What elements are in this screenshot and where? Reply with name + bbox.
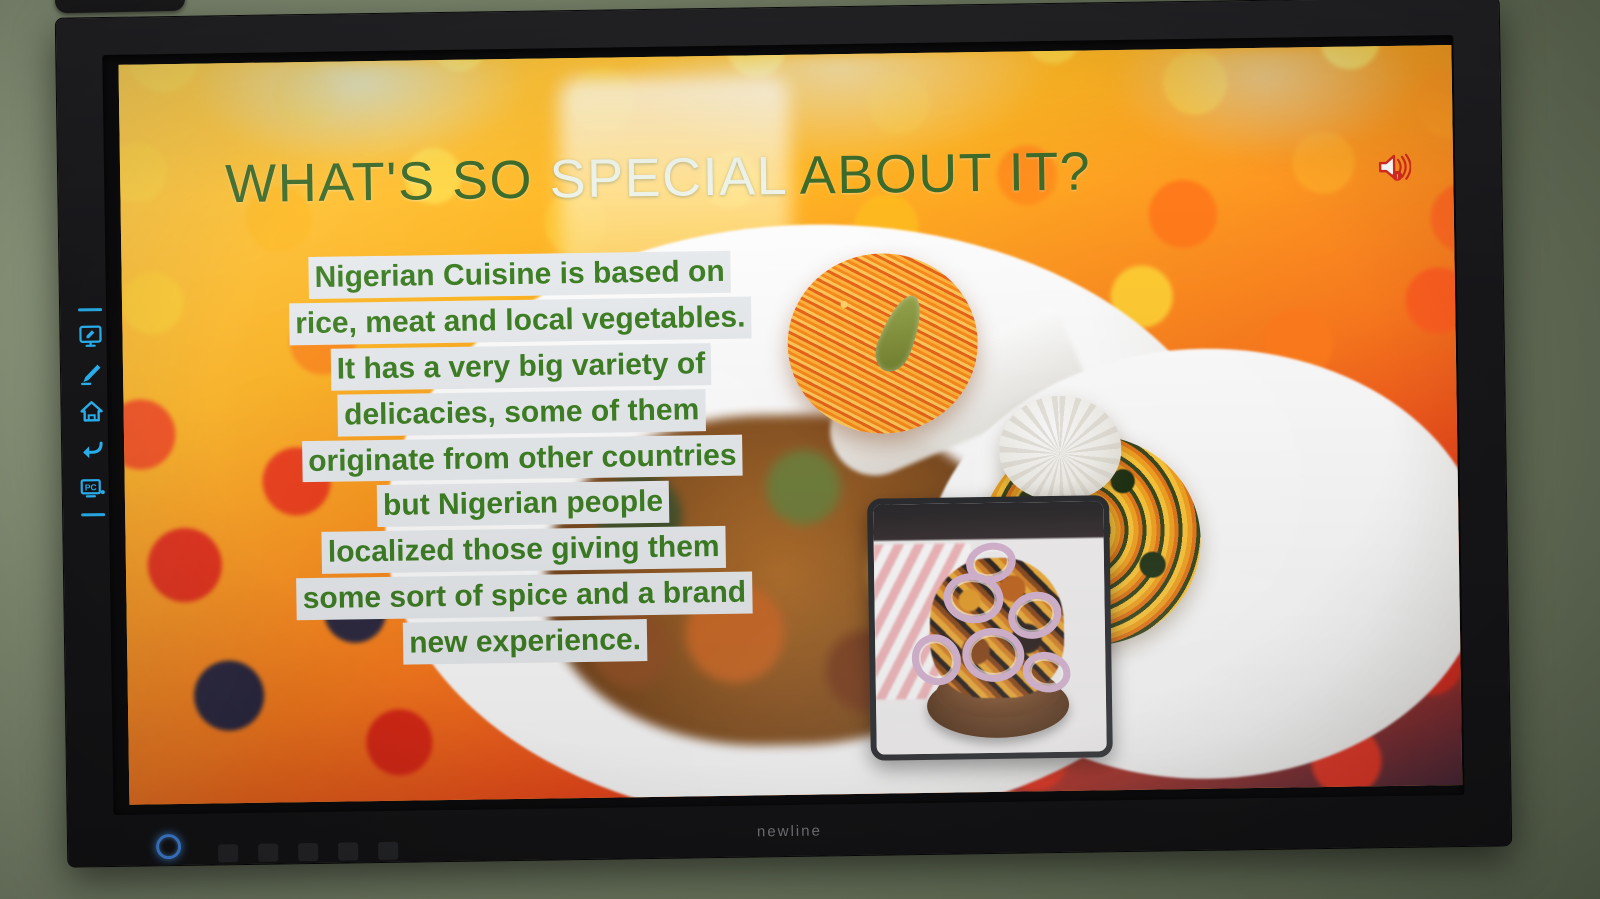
pen-marker-icon[interactable] bbox=[78, 361, 104, 387]
slide-title-part-1: WHAT'S SO bbox=[225, 149, 550, 214]
body-line: It has a very big variety of bbox=[330, 343, 711, 391]
hardware-button[interactable] bbox=[338, 842, 358, 860]
toolbar-divider-icon bbox=[81, 513, 105, 516]
body-line: originate from other countries bbox=[302, 434, 743, 482]
hardware-button[interactable] bbox=[298, 843, 318, 861]
body-line: delicacies, some of them bbox=[338, 389, 706, 436]
presentation-slide[interactable]: WHAT'S SO SPECIAL ABOUT IT? Nigerian Cui… bbox=[118, 45, 1462, 805]
slide-title-part-2: SPECIAL bbox=[549, 146, 786, 210]
interactive-display-device: WHAT'S SO SPECIAL ABOUT IT? Nigerian Cui… bbox=[56, 0, 1511, 867]
pc-source-label: PC bbox=[85, 482, 97, 492]
slide-title-part-3: ABOUT IT? bbox=[786, 141, 1092, 206]
body-line: some sort of spice and a brand bbox=[296, 572, 752, 621]
body-line: new experience. bbox=[403, 619, 647, 665]
screen-annotate-icon[interactable] bbox=[77, 323, 103, 349]
toolbar-divider-icon bbox=[78, 308, 102, 311]
slide-body-text: Nigerian Cuisine is based on rice, meat … bbox=[209, 249, 835, 671]
svg-text:!: ! bbox=[1396, 174, 1398, 181]
display-side-toolbar[interactable]: PC bbox=[68, 308, 115, 517]
body-line: localized those giving them bbox=[322, 526, 726, 574]
hardware-button-row[interactable] bbox=[218, 842, 398, 863]
body-line: but Nigerian people bbox=[377, 481, 670, 527]
pounded-yam-ball-image bbox=[999, 395, 1123, 502]
back-arrow-icon[interactable] bbox=[79, 437, 105, 463]
hardware-button[interactable] bbox=[378, 842, 398, 860]
slide-title: WHAT'S SO SPECIAL ABOUT IT? bbox=[225, 140, 1092, 215]
speaker-volume-icon[interactable]: ! bbox=[1377, 152, 1411, 183]
home-icon[interactable] bbox=[78, 399, 104, 425]
power-button[interactable] bbox=[156, 834, 181, 859]
body-line: rice, meat and local vegetables. bbox=[289, 296, 752, 345]
hardware-button[interactable] bbox=[258, 844, 278, 862]
inset-peppered-meat-image[interactable] bbox=[867, 495, 1113, 761]
hardware-button[interactable] bbox=[218, 844, 238, 862]
body-line: Nigerian Cuisine is based on bbox=[308, 251, 731, 299]
pc-source-icon[interactable]: PC bbox=[80, 475, 106, 501]
